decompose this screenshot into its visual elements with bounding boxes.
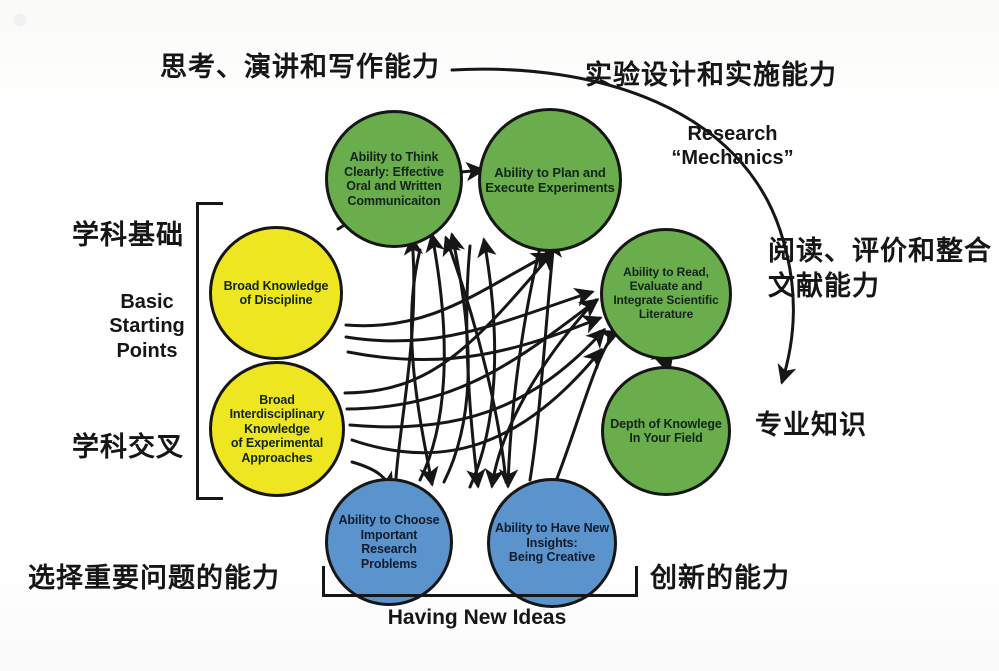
annotation-choose-important-problems: 选择重要问题的能力 bbox=[28, 563, 280, 596]
annotation-research-mechanics: Research “Mechanics” bbox=[660, 122, 805, 170]
having-new-ideas-bracket bbox=[322, 566, 638, 597]
annotation-interdisciplinary-crossing: 学科交叉 bbox=[72, 432, 184, 465]
annotation-experiment-design: 实验设计和实施能力 bbox=[585, 60, 837, 93]
annotation-professional-knowledge: 专业知识 bbox=[755, 410, 867, 443]
annotation-discipline-foundation: 学科基础 bbox=[72, 220, 184, 253]
annotation-literature-ability: 阅读、评价和整合 文献能力 bbox=[768, 234, 992, 304]
node-plan-execute[interactable]: Ability to Plan and Execute Experiments bbox=[478, 108, 622, 252]
node-label: Ability to Plan and Execute Experiments bbox=[485, 165, 615, 195]
annotation-innovation-ability: 创新的能力 bbox=[650, 563, 790, 596]
node-interdisciplinary[interactable]: Broad Interdisciplinary Knowledge of Exp… bbox=[209, 361, 345, 497]
annotation-having-new-ideas: Having New Ideas bbox=[322, 605, 632, 630]
node-label: Depth of Knowlege In Your Field bbox=[608, 417, 724, 446]
node-label: Ability to Think Clearly: Effective Oral… bbox=[332, 150, 456, 208]
node-label: Ability to Have New Insights: Being Crea… bbox=[494, 521, 610, 565]
annotation-basic-starting-points: Basic Starting Points bbox=[92, 290, 202, 363]
node-label: Ability to Choose Important Research Pro… bbox=[332, 513, 446, 571]
node-broad-knowledge[interactable]: Broad Knowledge of Discipline bbox=[209, 226, 343, 360]
node-label: Broad Interdisciplinary Knowledge of Exp… bbox=[216, 393, 338, 466]
diagram-canvas: Ability to Think Clearly: Effective Oral… bbox=[0, 0, 999, 671]
annotation-thinking-speaking-writing: 思考、演讲和写作能力 bbox=[160, 52, 440, 85]
node-label: Ability to Read, Evaluate and Integrate … bbox=[607, 266, 725, 322]
node-read-evaluate[interactable]: Ability to Read, Evaluate and Integrate … bbox=[600, 228, 732, 360]
node-depth-knowledge[interactable]: Depth of Knowlege In Your Field bbox=[601, 366, 731, 496]
node-label: Broad Knowledge of Discipline bbox=[216, 279, 336, 308]
node-think-clearly[interactable]: Ability to Think Clearly: Effective Oral… bbox=[325, 110, 463, 248]
